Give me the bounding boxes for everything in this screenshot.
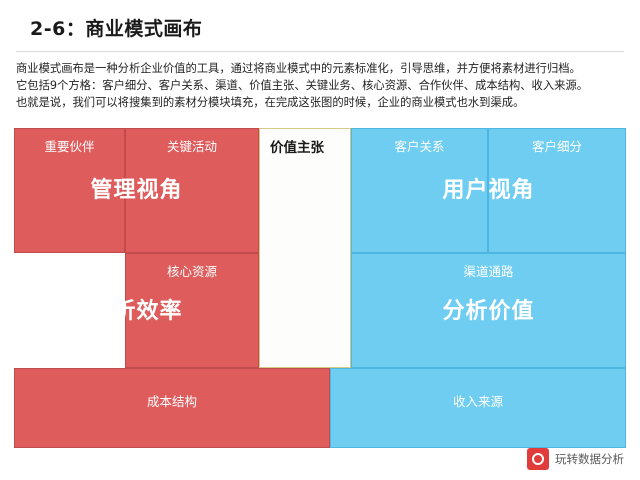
canvas-cell-customer-segments[interactable]: 客户细分	[488, 128, 626, 253]
intro-line-3: 也就是说，我们可以将搜集到的素材分模块填充，在完成这张图的时候，企业的商业模式也…	[16, 94, 624, 111]
canvas-cell-label: 价值主张	[270, 136, 350, 156]
canvas-cell-key-activities[interactable]: 关键活动	[125, 128, 259, 253]
canvas-cell-value-proposition[interactable]: 价值主张	[259, 128, 351, 368]
canvas-cell-label: 客户关系	[352, 136, 487, 155]
canvas-cell-label: 客户细分	[489, 136, 625, 155]
canvas-cell-cost-structure[interactable]: 成本结构	[14, 368, 330, 448]
canvas-cell-channels[interactable]: 渠道通路	[351, 253, 626, 368]
intro-line-1: 商业模式画布是一种分析企业价值的工具，通过将商业模式中的元素标准化，引导思维，并…	[16, 60, 624, 77]
canvas-cell-key-resources[interactable]: 核心资源	[125, 253, 259, 368]
page-title: 2-6：商业模式画布	[30, 14, 640, 41]
canvas-cell-label: 重要伙伴	[15, 136, 124, 155]
watermark-text: 玩转数据分析	[555, 451, 624, 467]
footer-watermark: 玩转数据分析	[527, 448, 624, 470]
circle-logo-icon	[527, 448, 549, 470]
canvas-cell-key-partners[interactable]: 重要伙伴	[14, 128, 125, 253]
intro-line-2: 它包括9个方格：客户细分、客户关系、渠道、价值主张、关键业务、核心资源、合作伙伴…	[16, 77, 624, 94]
page-header: 2-6：商业模式画布	[0, 0, 640, 45]
canvas-cell-revenue-streams[interactable]: 收入来源	[330, 368, 626, 448]
business-model-canvas: 重要伙伴 关键活动 核心资源 管理视角 分析效率 价值主张 客户关系 客户细分 …	[14, 128, 626, 448]
canvas-cell-label: 关键活动	[126, 136, 258, 155]
canvas-cell-label: 成本结构	[15, 391, 329, 410]
canvas-cell-label: 收入来源	[331, 391, 625, 410]
intro-paragraph: 商业模式画布是一种分析企业价值的工具，通过将商业模式中的元素标准化，引导思维，并…	[16, 60, 624, 111]
canvas-cell-customer-relationships[interactable]: 客户关系	[351, 128, 488, 253]
canvas-cell-label: 核心资源	[126, 261, 258, 280]
title-divider	[16, 51, 624, 52]
canvas-cell-label: 渠道通路	[352, 261, 625, 280]
